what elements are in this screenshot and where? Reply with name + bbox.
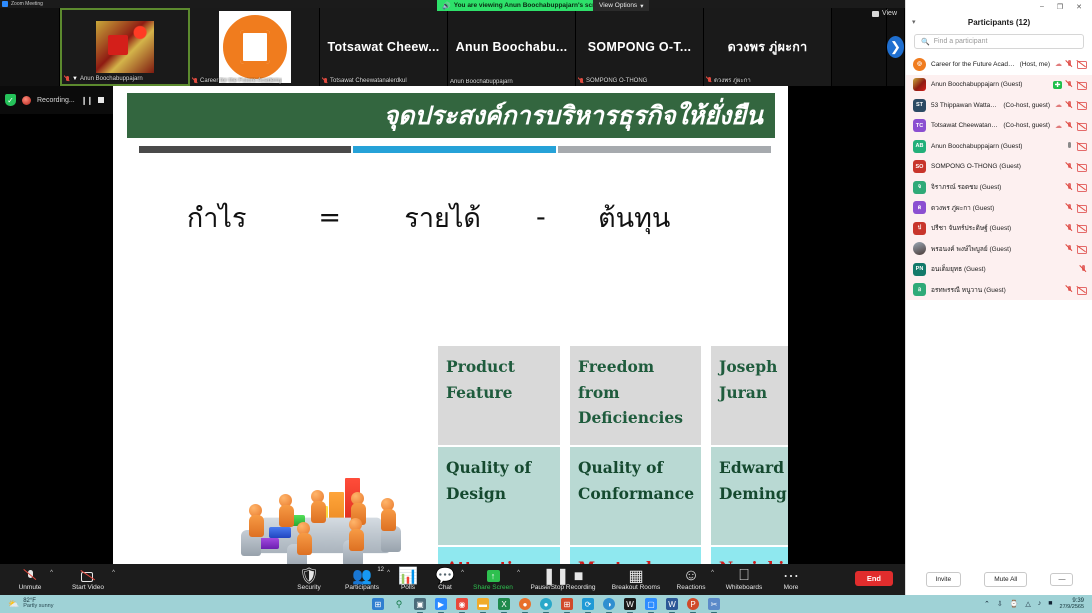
rule-bar-gray [558, 146, 771, 153]
toolbar-whiteboards-button[interactable]: ⎕ Whiteboards [715, 564, 773, 595]
thumbnail-name: Totsawat Cheewatanalerdkul [330, 78, 407, 84]
participant-name: ปรีชา จันทร์ประดิษฐ์ (Guest) [931, 223, 1061, 233]
windows-store-icon[interactable]: ⊞ [561, 598, 573, 610]
filmstrip-next-button[interactable]: ❯ [887, 36, 904, 58]
chevron-down-icon[interactable]: ▾ [912, 18, 916, 26]
taskbar-clock[interactable]: 9:39 27/9/2565 [1060, 598, 1084, 611]
chevron-up-icon[interactable]: ^ [50, 570, 53, 576]
participant-icons: ☁ [1055, 101, 1087, 110]
grid-view-icon [872, 11, 879, 17]
card-line-1: Must − be [578, 555, 693, 564]
breakout-rooms-icon: ▦ [628, 568, 643, 583]
toolbar-item-label: Start Video [72, 584, 104, 591]
more-icon: ⋯ [783, 568, 799, 583]
thumbnail-career-academy[interactable]: Career for the Future Academy [190, 8, 320, 86]
cloud-recording-icon: ☁ [1055, 122, 1062, 130]
thumbnail-duangporn[interactable]: ดวงพร ภู่ผะกา ดวงพร ภู่ผะกา [704, 8, 832, 86]
camera-muted-icon[interactable] [1077, 204, 1087, 212]
toolbar-chat-button[interactable]: 💬 Chat ^ [425, 564, 465, 595]
camera-muted-icon[interactable] [1077, 163, 1087, 171]
clipart-person [381, 498, 397, 534]
line-icon[interactable]: ● [540, 598, 552, 610]
zoom-icon[interactable]: ▶ [435, 598, 447, 610]
participant-row[interactable]: SO SOMPONG O-THONG (Guest) [906, 157, 1092, 178]
card-line-1: Product [446, 354, 552, 380]
participant-icons: ☁ [1055, 121, 1087, 130]
card-attractive-quality: Attractive Quality [438, 547, 560, 564]
view-layout-button[interactable]: View [872, 10, 897, 17]
formula-profit: กำไร [143, 196, 290, 239]
card-must-be-quality: Must − be Quality [570, 547, 701, 564]
toolbar-participants-button[interactable]: 👥 12 Participants ^ [333, 564, 391, 595]
chevron-up-icon[interactable]: ^ [461, 570, 464, 576]
teamviewer-icon[interactable]: ⟳ [582, 598, 594, 610]
panel-window-controls: – ❐ ✕ [906, 0, 1092, 13]
filmstrip-spacer [0, 8, 60, 86]
slide-title-bar: จุดประสงค์การบริหารธุรกิจให้ยั่งยืน [127, 93, 775, 138]
participant-row[interactable]: ป ปรีชา จันทร์ประดิษฐ์ (Guest) [906, 218, 1092, 239]
participant-row[interactable]: อ อรทพรรณี หนูวาน (Guest) [906, 280, 1092, 301]
chrome-icon[interactable]: ◉ [456, 598, 468, 610]
clipart-person [249, 504, 265, 540]
view-button-label: View [882, 10, 897, 17]
screen-root: Zoom Meeting ▼ Anun Boochabuppajarn [0, 0, 1092, 613]
participant-row[interactable]: PN อนเต็มยุทธ (Guest) [906, 259, 1092, 280]
card-line-1: Joseph [719, 354, 788, 380]
participant-name: Career for the Future Acade... [931, 61, 1015, 68]
avatar: PN [913, 263, 926, 276]
clipart-person-body [279, 505, 294, 527]
start-icon[interactable]: ⊞ [372, 598, 384, 610]
mic-muted-icon [24, 568, 37, 583]
shared-screen-slide[interactable]: จุดประสงค์การบริหารธุรกิจให้ยั่งยืน กำไร… [113, 86, 788, 564]
toolbar-share-screen-button[interactable]: ↑ Share Screen ^ [465, 564, 521, 595]
view-options-label: View Options [599, 2, 637, 9]
thumbnail-display-name: SOMPONG O-T... [576, 40, 703, 54]
search-icon[interactable]: ⚲ [393, 598, 405, 610]
formula-minus: - [516, 202, 565, 233]
mic-muted-icon [578, 77, 584, 85]
participant-icons [1080, 265, 1087, 274]
participant-row[interactable]: ◎ Career for the Future Acade... (Host, … [906, 54, 1092, 75]
slide-rule-bars [139, 146, 771, 153]
minimize-button[interactable]: – [1040, 3, 1044, 10]
participant-name: Anun Boochabuppajarn (Guest) [931, 143, 1061, 150]
card-line-1: Edward [719, 455, 788, 481]
cloud-sun-icon: ⛅ [8, 599, 19, 610]
mute-all-button[interactable]: Mute All [984, 572, 1027, 587]
toolbar-item-label: Whiteboards [726, 584, 763, 591]
viewing-banner-text: You are viewing Anun Boochabuppajarn's s… [454, 2, 606, 9]
participant-icons [1066, 224, 1087, 233]
filmstrip-next-cell: ❯ [887, 8, 905, 86]
profit-formula: กำไร = รายได้ - ต้นทุน [143, 196, 703, 239]
participant-name: Anun Boochabuppajarn (Guest) [931, 81, 1048, 88]
card-joseph-juran: Joseph Juran [711, 346, 788, 445]
seal-wrap [219, 11, 291, 83]
cd-logo-icon [96, 21, 154, 73]
camera-muted-icon[interactable] [1077, 286, 1087, 294]
mic-icon[interactable] [1066, 142, 1073, 151]
participant-icons: ✚ [1053, 80, 1087, 89]
chevron-up-icon[interactable]: ^ [517, 570, 520, 576]
end-meeting-button[interactable]: End [855, 571, 893, 586]
camera-muted-icon [81, 568, 96, 583]
participants-panel: – ❐ ✕ ▾ Participants (12) 🔍 Find a parti… [905, 0, 1092, 595]
mic-muted-icon[interactable] [1066, 203, 1073, 212]
mic-muted-icon[interactable] [1066, 80, 1073, 89]
search-wrapper: 🔍 Find a participant [906, 31, 1092, 54]
onedrive-icon[interactable]: ⇩ [997, 600, 1003, 608]
maximize-button[interactable]: ❐ [1057, 3, 1063, 11]
camera-muted-icon[interactable] [1077, 101, 1087, 109]
battery-icon[interactable]: ■ [1048, 600, 1052, 607]
toolbar-unmute-button[interactable]: Unmute ^ [6, 564, 54, 595]
taskbar-weather-widget[interactable]: ⛅ 82°F Partly sunny [0, 598, 300, 610]
windows-taskbar: ⛅ 82°F Partly sunny ⊞ ⚲ ▣ ▶ ◉ ▬ X ● ● ⊞ … [0, 595, 1092, 613]
participant-icons [1066, 183, 1087, 192]
participant-name: พรอนงค์ พงษ์ไพบูลย์ (Guest) [931, 244, 1061, 254]
participant-icons [1066, 162, 1087, 171]
toolbar-more-button[interactable]: ⋯ More [773, 564, 809, 595]
clipart-person [297, 522, 313, 558]
cloud-recording-icon: ☁ [1055, 60, 1062, 68]
toolbar-item-label: Security [297, 584, 320, 591]
mic-muted-icon[interactable] [1080, 265, 1087, 274]
participant-role: (Host, me) [1020, 61, 1050, 68]
card-line-1: Freedom from [578, 354, 693, 405]
participant-name: SOMPONG O-THONG (Guest) [931, 163, 1061, 170]
camera-muted-icon[interactable] [1077, 122, 1087, 130]
formula-cost: ต้นทุน [565, 196, 703, 239]
avatar: อ [913, 283, 926, 296]
mic-muted-icon [64, 75, 70, 83]
participant-row[interactable]: พรอนงค์ พงษ์ไพบูลย์ (Guest) [906, 239, 1092, 260]
toolbar-reactions-button[interactable]: ☺ Reactions ^ [667, 564, 715, 595]
chevron-up-icon[interactable]: ^ [711, 570, 714, 576]
task-view-icon[interactable]: ▣ [414, 598, 426, 610]
participant-name: 53 Thippawan Wattana... [931, 102, 998, 109]
avatar [913, 78, 926, 91]
toolbar-security-button[interactable]: 🛡 Security [285, 564, 333, 595]
pin-icon: ▼ [72, 76, 78, 82]
card-line-1: Noriaki [719, 555, 788, 564]
card-line-1: Attractive [446, 555, 552, 564]
participant-row[interactable]: Anun Boochabuppajarn (Guest) ✚ [906, 75, 1092, 96]
volume-icon[interactable]: ♪ [1038, 600, 1042, 607]
card-line-2: Deming [719, 481, 788, 507]
meeting-toolbar: Unmute ^ Start Video ^ 🛡 Security 👥 12 P… [0, 564, 905, 595]
toolbar-breakout-rooms-button[interactable]: ▦ Breakout Rooms [605, 564, 667, 595]
thumbnail-name: ดวงพร ภู่ผะกา [714, 75, 751, 85]
avatar: AB [913, 140, 926, 153]
zoom-icon [2, 1, 8, 7]
toolbar-polls-button[interactable]: 📊 Polls [391, 564, 425, 595]
share-screen-icon: ↑ [487, 568, 500, 583]
card-line-1: Quality of [578, 455, 693, 481]
formula-revenue: รายได้ [369, 196, 516, 239]
thumbnail-label: Career for the Future Academy [192, 77, 282, 85]
mic-muted-icon[interactable] [1066, 101, 1073, 110]
thumbnail-label: Totsawat Cheewatanalerdkul [322, 77, 407, 85]
card-quality-of-conformance: Quality of Conformance [570, 447, 701, 545]
shield-icon: 🛡 [299, 568, 319, 583]
stop-recording-button[interactable] [98, 97, 104, 103]
search-icon: 🔍 [921, 38, 930, 46]
toolbar-start-video-button[interactable]: Start Video ^ [60, 564, 116, 595]
card-line-2: Deficiencies [578, 405, 693, 431]
stage-right-fill [788, 86, 905, 564]
camera-muted-icon[interactable] [1077, 142, 1087, 150]
toolbar-item-label: Polls [401, 584, 415, 591]
participant-row[interactable]: ST 53 Thippawan Wattana... (Co-host, gue… [906, 95, 1092, 116]
card-freedom-from-deficiencies: Freedom from Deficiencies [570, 346, 701, 445]
snipping-tool-icon[interactable]: ✂ [708, 598, 720, 610]
invite-button[interactable]: Invite [926, 572, 962, 587]
thumbnail-anun-2[interactable]: Anun Boochabu... Anun Boochabuppajarn [448, 8, 576, 86]
clipart-person-body [249, 515, 264, 537]
zoom-meeting-window: Zoom Meeting ▼ Anun Boochabuppajarn [0, 0, 905, 595]
green-check-icon: ✚ [1053, 81, 1062, 89]
participant-name: ดวงพร ภู่ผะกา (Guest) [931, 203, 1061, 213]
academy-seal-icon [223, 15, 287, 79]
clipart-person-body [297, 533, 312, 555]
participant-icons [1066, 244, 1087, 253]
toolbar-item-label: Pause/Stop Recording [530, 584, 595, 591]
taskbar-system-tray: ⌃ ⇩ ⌚ △ ♪ ■ 9:39 27/9/2565 [792, 598, 1092, 611]
camera-muted-icon[interactable] [1077, 245, 1087, 253]
avatar [913, 242, 926, 255]
polls-icon: 📊 [398, 568, 418, 583]
thumbnail-display-name: Anun Boochabu... [448, 40, 575, 54]
panel-header: ▾ Participants (12) [906, 13, 1092, 31]
clipart-person [279, 494, 295, 530]
thumbnail-label: ▼ Anun Boochabuppajarn [64, 75, 143, 83]
taskbar-app-icons: ⊞ ⚲ ▣ ▶ ◉ ▬ X ● ● ⊞ ⟳ ◑ W ▢ W P ✂ [300, 598, 792, 610]
powerpoint-icon[interactable]: P [687, 598, 699, 610]
participant-role: (Co-host, guest) [1003, 102, 1050, 109]
chevron-up-icon[interactable]: ^ [112, 570, 115, 576]
camera-muted-icon[interactable] [1077, 224, 1087, 232]
excel-icon[interactable]: X [498, 598, 510, 610]
toolbar-item-label: More [784, 584, 799, 591]
meeting-table-bar-chart-clipart [235, 456, 415, 564]
search-participant-box[interactable]: 🔍 Find a participant [914, 34, 1084, 49]
participant-role: (Co-host, guest) [1003, 122, 1050, 129]
wifi-icon[interactable]: △ [1025, 600, 1030, 608]
avatar: ◎ [913, 58, 926, 71]
tray-chevron-icon[interactable]: ⌃ [984, 600, 990, 608]
mic-muted-icon [706, 76, 712, 84]
panel-footer: Invite Mute All — [906, 563, 1092, 595]
participant-icons [1066, 142, 1087, 151]
toolbar-item-label: Participants [345, 584, 379, 591]
clipart-person [349, 518, 365, 554]
card-quality-of-design: Quality of Design [438, 447, 560, 545]
participant-name: อนเต็มยุทธ (Guest) [931, 264, 1075, 274]
participant-row[interactable]: TC Totsawat Cheewatanal... (Co-host, gue… [906, 116, 1092, 137]
pause-stop-icon: ❚❚ ■ [543, 568, 584, 583]
record-dot-icon [22, 96, 31, 105]
participant-row[interactable]: AB Anun Boochabuppajarn (Guest) [906, 136, 1092, 157]
chevron-up-icon[interactable]: ^ [387, 570, 390, 576]
formula-equals: = [290, 202, 369, 233]
participant-row[interactable]: ด ดวงพร ภู่ผะกา (Guest) [906, 198, 1092, 219]
avatar: ด [913, 201, 926, 214]
clipart-person-body [311, 501, 326, 523]
close-button[interactable]: ✕ [1076, 3, 1082, 11]
weather-text: 82°F Partly sunny [23, 598, 53, 610]
toolbar-item-label: Breakout Rooms [612, 584, 660, 591]
thumbnail-name: SOMPONG O-THONG [586, 78, 647, 84]
rule-bar-dark [139, 146, 351, 153]
mic-muted-icon[interactable] [1066, 183, 1073, 192]
participant-icons [1066, 285, 1087, 294]
file-explorer-icon[interactable]: ▬ [477, 598, 489, 610]
card-line-2: Design [446, 481, 552, 507]
clipart-person-body [349, 529, 364, 551]
thumbnail-label: ดวงพร ภู่ผะกา [706, 75, 751, 85]
participants-icon: 👥 [352, 568, 372, 583]
avatar: ป [913, 222, 926, 235]
thumbnail-sompong[interactable]: SOMPONG O-T... SOMPONG O-THONG [576, 8, 704, 86]
thumbnail-totsawat[interactable]: Totsawat Cheew... Totsawat Cheewatanaler… [320, 8, 448, 86]
avatar: TC [913, 119, 926, 132]
whiteboard-icon: ⎕ [739, 568, 749, 583]
mic-muted-icon[interactable] [1066, 121, 1073, 130]
panel-title: Participants (12) [906, 18, 1092, 27]
clock-date: 27/9/2565 [1060, 604, 1084, 610]
camera-muted-icon[interactable] [1077, 81, 1087, 89]
stage-left-fill [0, 114, 113, 564]
mic-muted-icon [322, 77, 328, 85]
participant-row[interactable]: จ จิราภรณ์ รอดชม (Guest) [906, 177, 1092, 198]
thumbnail-anun-video[interactable]: ▼ Anun Boochabuppajarn [60, 8, 190, 86]
pause-recording-button[interactable]: ❙❙ [81, 96, 92, 105]
recording-label: Recording... [37, 97, 75, 104]
thumbnail-label: Anun Boochabuppajarn [450, 79, 513, 85]
window-title: Zoom Meeting [11, 0, 43, 8]
card-line-2: Juran [719, 380, 788, 406]
participants-count-badge: 12 [377, 567, 384, 573]
toolbar-item-label: Chat [438, 584, 452, 591]
viewing-screen-banner: 🔊 You are viewing Anun Boochabuppajarn's… [437, 0, 611, 11]
mic-muted-icon[interactable] [1066, 285, 1073, 294]
participant-name: Totsawat Cheewatanal... [931, 122, 998, 129]
card-line-2: Conformance [578, 481, 693, 507]
filmstrip-end-spacer [832, 8, 887, 86]
view-options-button[interactable]: View Options ▾ [593, 0, 649, 11]
thumbnail-name: Anun Boochabuppajarn [80, 76, 143, 82]
toolbar-pause-stop-recording-button[interactable]: ❚❚ ■ Pause/Stop Recording [521, 564, 605, 595]
avatar: SO [913, 160, 926, 173]
mic-muted-icon[interactable] [1066, 60, 1073, 69]
rule-bar-blue [353, 146, 556, 153]
card-line-2: Feature [446, 380, 552, 406]
mic-muted-icon[interactable] [1066, 244, 1073, 253]
reactions-icon: ☺ [683, 568, 699, 583]
chevron-down-icon: ▾ [640, 2, 643, 10]
slide-title: จุดประสงค์การบริหารธุรกิจให้ยั่งยืน [384, 96, 763, 136]
toolbar-item-label: Reactions [677, 584, 706, 591]
mic-muted-icon[interactable] [1066, 224, 1073, 233]
shield-check-icon[interactable]: ✓ [5, 94, 16, 106]
quality-concept-grid: Product Feature Freedom from Deficiencie… [438, 346, 783, 564]
firefox-icon[interactable]: ● [519, 598, 531, 610]
camera-muted-icon[interactable] [1077, 60, 1087, 68]
recording-bar: ✓ Recording... ❙❙ [0, 86, 113, 114]
clipart-person [311, 490, 327, 526]
participant-icons: ☁ [1055, 60, 1087, 69]
avatar: จ [913, 181, 926, 194]
participants-list[interactable]: ◎ Career for the Future Acade... (Host, … [906, 54, 1092, 300]
mic-muted-icon[interactable] [1066, 162, 1073, 171]
thumbnail-display-name: Totsawat Cheew... [320, 40, 447, 54]
card-edward-deming: Edward Deming [711, 447, 788, 545]
search-input[interactable]: Find a participant [934, 38, 988, 45]
camera-muted-icon[interactable] [1077, 183, 1087, 191]
participant-name: อรทพรรณี หนูวาน (Guest) [931, 285, 1061, 295]
chat-icon: 💬 [435, 568, 455, 583]
weather-condition: Partly sunny [23, 604, 53, 610]
thumbnail-name: Anun Boochabuppajarn [450, 79, 513, 85]
thumbnail-display-name: ดวงพร ภู่ผะกา [704, 37, 831, 57]
participant-icons [1066, 203, 1087, 212]
speaker-icon: 🔊 [442, 2, 451, 10]
toolbar-item-label: Unmute [19, 584, 42, 591]
participant-filmstrip: ▼ Anun Boochabuppajarn Career for the Fu… [0, 8, 905, 86]
edge-icon[interactable]: ◑ [603, 598, 615, 610]
thumbnail-name: Career for the Future Academy [200, 78, 282, 84]
clock-time: 9:39 [1060, 598, 1084, 605]
thumbnail-label: SOMPONG O-THONG [578, 77, 647, 85]
mic-muted-icon [192, 77, 198, 85]
network-icon[interactable]: ⌚ [1010, 600, 1019, 608]
participant-name: จิราภรณ์ รอดชม (Guest) [931, 182, 1061, 192]
toolbar-item-label: Share Screen [473, 584, 513, 591]
clipart-person-body [381, 509, 396, 531]
card-line-1: Quality of [446, 455, 552, 481]
webex-icon[interactable]: W [624, 598, 636, 610]
avatar: ST [913, 99, 926, 112]
card-noriaki-kano: Noriaki Kano [711, 547, 788, 564]
zoom-2-icon[interactable]: ▢ [645, 598, 657, 610]
cloud-recording-icon: ☁ [1055, 101, 1062, 109]
more-options-button[interactable]: — [1050, 573, 1073, 586]
word-icon[interactable]: W [666, 598, 678, 610]
card-product-feature: Product Feature [438, 346, 560, 445]
